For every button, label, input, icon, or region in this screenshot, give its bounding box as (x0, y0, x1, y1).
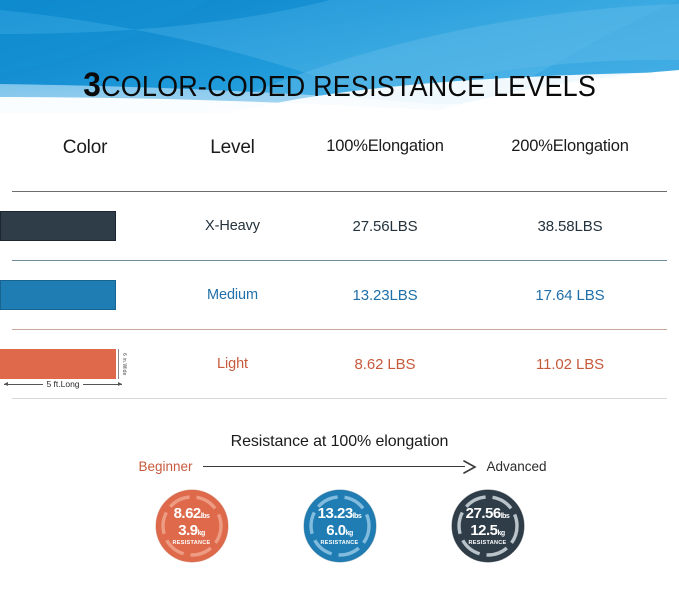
width-dimension-callout: 6 in.Wide (118, 347, 127, 381)
table-header-row: Color Level 100%Elongation 200%Elongatio… (0, 113, 679, 191)
scale-end-label: Advanced (487, 459, 579, 474)
length-dimension-callout: 5 ft.Long (4, 379, 122, 389)
scale-start-label: Beginner (101, 459, 193, 474)
arrow-head-icon (463, 460, 477, 474)
elongation-200-value: 38.58LBS (475, 218, 665, 235)
color-swatch-blue (0, 280, 116, 310)
elongation-100-value: 27.56LBS (295, 218, 475, 235)
width-dimension-bar (118, 349, 119, 379)
column-header-100-elongation: 100%Elongation (295, 137, 475, 156)
scale-arrow-row: Beginner Advanced (0, 459, 679, 474)
scale-arrow-icon (203, 460, 477, 474)
resistance-scale-section: Resistance at 100% elongation Beginner A… (0, 433, 679, 564)
elongation-200-value: 11.02 LBS (475, 356, 665, 373)
elongation-100-value: 13.23LBS (295, 287, 475, 304)
level-value: Medium (170, 287, 295, 303)
length-dimension-label: 5 ft.Long (46, 379, 79, 389)
column-header-color: Color (0, 137, 170, 159)
level-value: Light (170, 356, 295, 372)
color-swatch-dark (0, 211, 116, 241)
resistance-badge-x-heavy: 27.56lbs 12.5kg RESISTANCE (450, 488, 526, 564)
elongation-200-value: 17.64 LBS (475, 287, 665, 304)
color-swatch-cell-orange: 6 in.Wide 5 ft.Long (0, 330, 170, 398)
gauge-ring-dark-icon (450, 488, 526, 564)
table-row: 6 in.Wide 5 ft.Long Light 8.62 LBS 11.02… (0, 330, 679, 398)
gauge-ring-orange-icon (154, 488, 230, 564)
resistance-badge-medium: 13.23lbs 6.0kg RESISTANCE (302, 488, 378, 564)
divider-after-row-3 (12, 398, 667, 399)
color-swatch-orange (0, 349, 116, 379)
scale-title: Resistance at 100% elongation (0, 433, 679, 451)
table-row: Medium 13.23LBS 17.64 LBS (0, 261, 679, 329)
resistance-circles: 8.62lbs 3.9kg RESISTANCE 13.23lbs 6.0kg … (0, 488, 679, 564)
dimension-arrow-left (4, 384, 43, 385)
elongation-100-value: 8.62 LBS (295, 356, 475, 373)
color-swatch-cell-blue (0, 261, 170, 329)
resistance-badge-light: 8.62lbs 3.9kg RESISTANCE (154, 488, 230, 564)
header-banner: 3COLOR-CODED RESISTANCE LEVELS (0, 0, 679, 113)
column-header-level: Level (170, 137, 295, 159)
table-row: X-Heavy 27.56LBS 38.58LBS (0, 192, 679, 260)
color-swatch-cell-dark (0, 192, 170, 260)
width-dimension-label: 6 in.Wide (121, 353, 127, 376)
banner-wave-graphic (0, 0, 679, 113)
level-value: X-Heavy (170, 218, 295, 234)
column-header-200-elongation: 200%Elongation (475, 137, 665, 156)
resistance-table: Color Level 100%Elongation 200%Elongatio… (0, 113, 679, 399)
dimension-arrow-right (83, 384, 122, 385)
gauge-ring-blue-icon (302, 488, 378, 564)
